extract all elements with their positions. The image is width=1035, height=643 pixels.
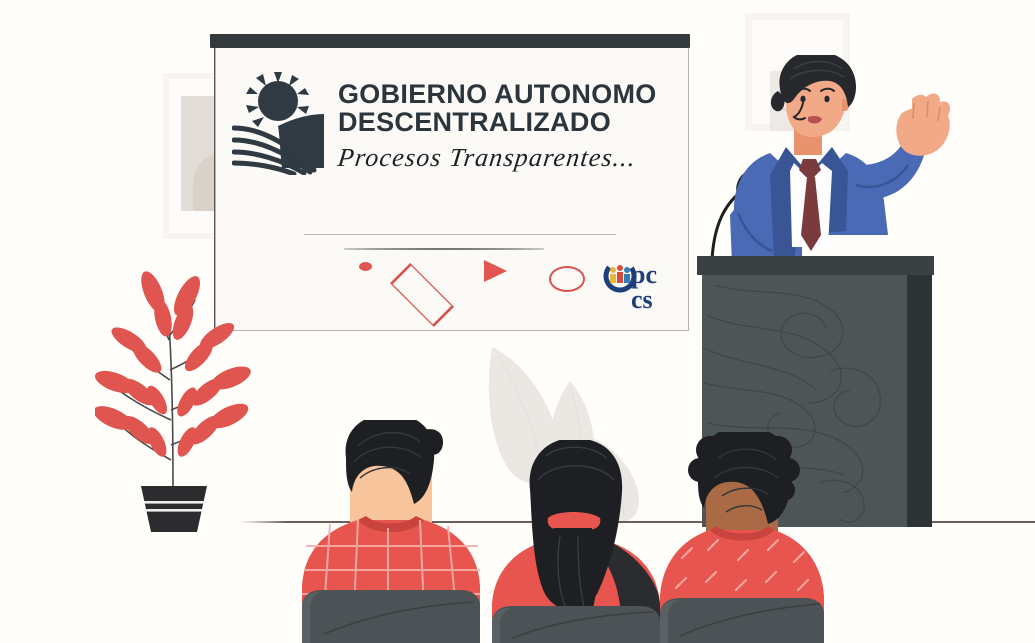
slide-title: GOBIERNO AUTONOMO DESCENTRALIZADO (338, 81, 688, 136)
cpccs-logo: pc cs pc cs (601, 253, 673, 315)
sun-and-hill-logo (232, 70, 342, 175)
slide-divider-bottom (344, 248, 544, 250)
podium-top (697, 256, 934, 275)
projector-screen: GOBIERNO AUTONOMO DESCENTRALIZADO Proces… (215, 48, 689, 331)
podium-side-panel (907, 275, 932, 527)
potted-plant (95, 270, 255, 535)
slide-subtitle: Procesos Transparentes... (336, 143, 700, 173)
audience-member-curly-hair (652, 432, 832, 643)
cpccs-logo-line-2: cs (601, 315, 602, 316)
slide-shape-dot (359, 262, 372, 271)
audience-member-plaid-shirt (296, 420, 486, 643)
slide-shape-ellipse (549, 266, 585, 292)
presentation-scene: GOBIERNO AUTONOMO DESCENTRALIZADO Proces… (0, 0, 1035, 643)
slide-divider-top (304, 234, 616, 235)
slide-shape-triangle (484, 260, 507, 282)
cpccs-logo-line-1: pc (601, 315, 602, 316)
audience-member-ponytail (486, 440, 666, 643)
slide-title-line-1: GOBIERNO AUTONOMO (338, 79, 657, 109)
svg-text:cs: cs (631, 285, 653, 314)
slide-shape-diamond (390, 263, 454, 327)
presenter-man (690, 55, 960, 265)
slide-title-line-2: DESCENTRALIZADO (338, 109, 688, 137)
projector-screen-bar (210, 34, 690, 48)
